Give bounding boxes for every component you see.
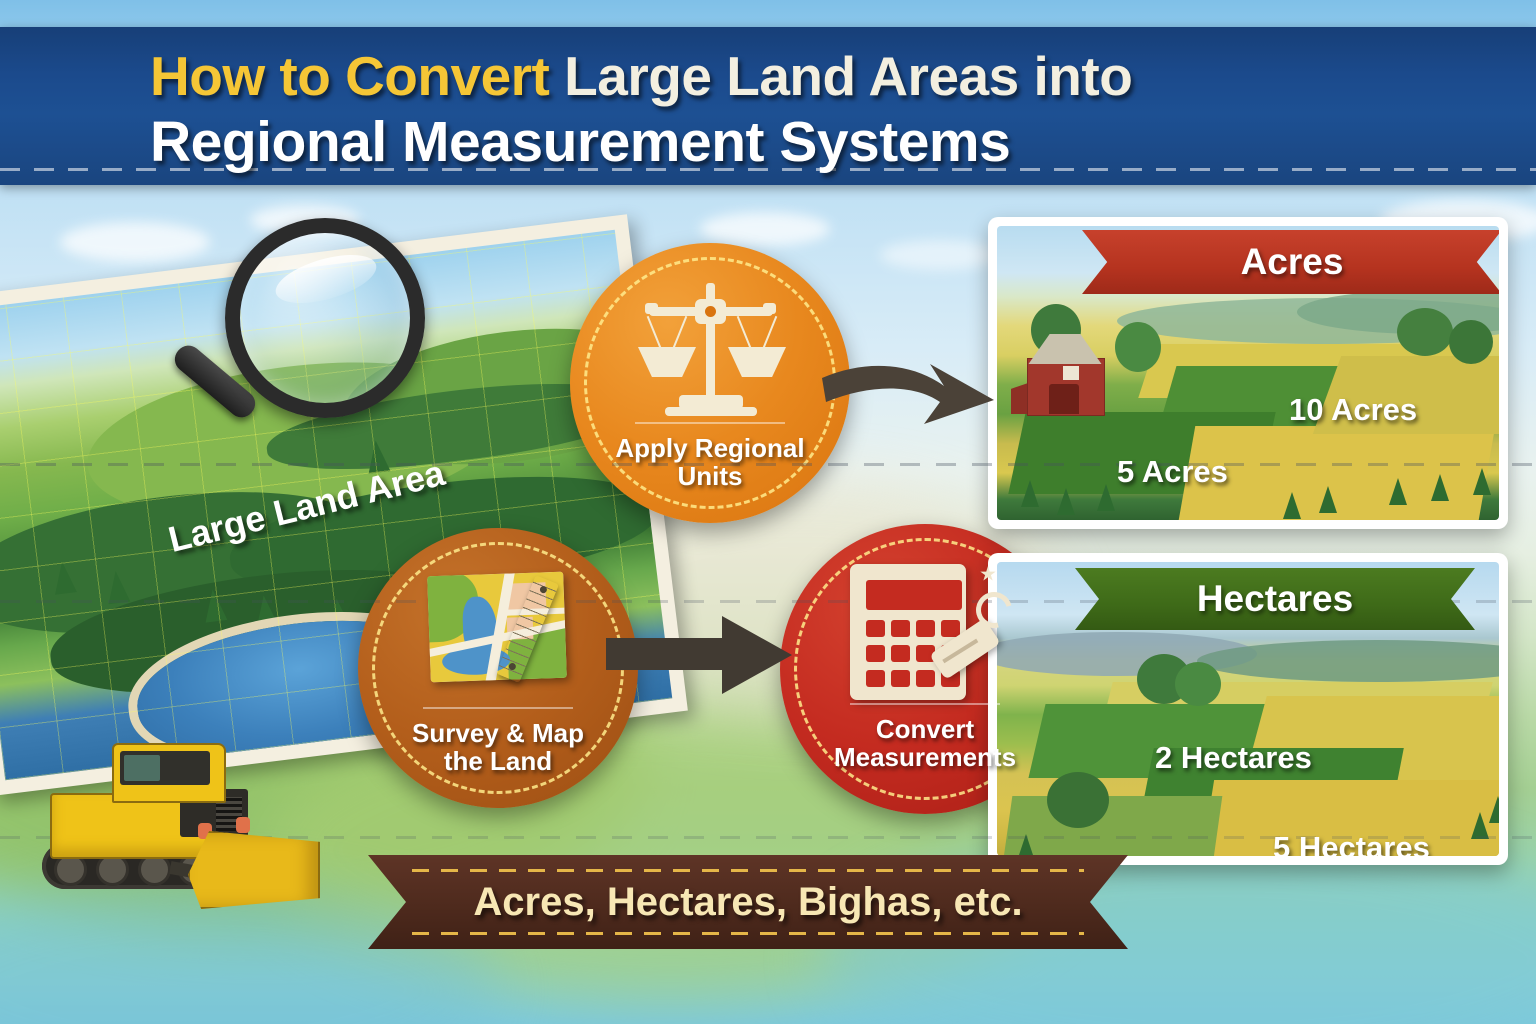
scales-knob [645, 303, 658, 314]
arrow-to-convert-step [606, 608, 806, 708]
calculator-key [866, 645, 885, 662]
tree-cluster [1397, 308, 1453, 356]
barn-door [1049, 384, 1079, 414]
step-label-line-1: Apply Regional [615, 433, 804, 463]
calculator-icon [844, 558, 1006, 703]
tree-icon [1021, 480, 1039, 507]
calculator-key [941, 620, 960, 637]
cloud-icon [60, 222, 210, 262]
acres-ribbon-label: Acres [1241, 241, 1344, 283]
acres-value-primary: 10 Acres [1289, 392, 1417, 428]
step-label-line-2: the Land [444, 746, 552, 776]
calculator-key [866, 620, 885, 637]
tree-cluster [1047, 772, 1109, 828]
title-rest-text: Large Land Areas into [564, 45, 1132, 107]
title-text-group: How to Convert Large Land Areas into Reg… [150, 49, 1386, 171]
hectares-ribbon-banner: Hectares [1075, 568, 1475, 630]
scales-knob [763, 303, 776, 314]
calculator-key [866, 670, 885, 687]
tree-icon [1389, 478, 1407, 505]
infographic-canvas: How to Convert Large Land Areas into Reg… [0, 0, 1536, 1024]
step-label-line-2: Units [677, 461, 742, 491]
hectares-panel-scene: Hectares 2 Hectares 5 Hectares [997, 562, 1499, 856]
hectares-value-primary: 2 Hectares [1155, 740, 1312, 776]
circle-divider [635, 422, 785, 424]
barn-window [1063, 366, 1079, 380]
tree-cluster [1175, 662, 1221, 706]
step-circle-apply-regional-units[interactable]: Apply Regional Units [570, 243, 850, 523]
tree-icon [1489, 796, 1499, 823]
tree-icon [1057, 488, 1075, 515]
step-label-survey-map-land: Survey & Map the Land [375, 720, 621, 776]
dozer-window-pane [124, 755, 160, 781]
scales-string [763, 316, 778, 348]
scales-string [673, 316, 688, 348]
step-circle-survey-map-land[interactable]: Survey & Map the Land [358, 528, 638, 808]
ruler-hole [508, 662, 517, 671]
acres-panel-scene: Acres 10 Acres 5 Acres [997, 226, 1499, 520]
tree-icon [1319, 486, 1337, 513]
acres-value-secondary: 5 Acres [1117, 454, 1228, 490]
page-title-line-2: Regional Measurement Systems [150, 114, 1386, 171]
step-label-apply-regional-units: Apply Regional Units [587, 435, 833, 491]
tree-icon [1283, 492, 1301, 519]
magnifier-icon [225, 218, 425, 418]
calculator-key [891, 645, 910, 662]
lens-glint [271, 245, 382, 312]
calculator-screen [866, 580, 962, 610]
acres-ribbon-banner: Acres [1082, 230, 1499, 294]
calculator-key [891, 670, 910, 687]
tree-icon [1473, 468, 1491, 495]
circle-divider [423, 707, 573, 709]
tree-cluster [1115, 322, 1161, 372]
dozer-lamp [236, 817, 250, 833]
scales-foot [665, 407, 757, 416]
cloud-icon [880, 240, 1000, 270]
units-summary-banner: Acres, Hectares, Bighas, etc. [368, 855, 1128, 949]
cloud-icon [700, 212, 830, 246]
scales-pan-right [728, 347, 786, 377]
page-title-line-1: How to Convert Large Land Areas into [150, 49, 1386, 104]
tree-icon [1097, 484, 1115, 511]
title-accent-text: How to Convert [150, 45, 549, 107]
acres-panel[interactable]: Acres 10 Acres 5 Acres [988, 217, 1508, 529]
arrow-to-acres-panel [818, 340, 1008, 450]
step-label-line-1: Convert [876, 714, 974, 744]
scales-hub-dot [705, 306, 716, 317]
step-label-line-1: Survey & Map [412, 718, 584, 748]
ruler-hole [539, 585, 548, 594]
balance-scales-icon [635, 277, 785, 422]
barn-icon [1013, 332, 1117, 414]
map-and-ruler-icon [423, 562, 573, 707]
calculator-key [916, 620, 935, 637]
title-banner: How to Convert Large Land Areas into Reg… [0, 27, 1536, 185]
hectares-value-secondary: 5 Hectares [1273, 830, 1430, 856]
calculator-key [891, 620, 910, 637]
magnifier-lens [225, 218, 425, 418]
bulldozer-icon [20, 735, 350, 945]
step-label-convert-measurements: Convert Measurements [797, 716, 1052, 772]
calculator-body [850, 564, 966, 700]
hectares-ribbon-label: Hectares [1197, 578, 1353, 620]
tree-icon [1431, 474, 1449, 501]
sparkle-icon [980, 566, 996, 582]
scales-string [647, 316, 662, 348]
circle-divider [850, 703, 1000, 705]
calculator-key [916, 670, 935, 687]
tree-cluster [1449, 320, 1493, 364]
tree-icon [1471, 812, 1489, 839]
units-summary-text: Acres, Hectares, Bighas, etc. [473, 880, 1022, 925]
step-label-line-2: Measurements [834, 742, 1016, 772]
dozer-blade [188, 831, 320, 909]
scales-pan-left [638, 347, 696, 377]
scales-string [737, 316, 752, 348]
